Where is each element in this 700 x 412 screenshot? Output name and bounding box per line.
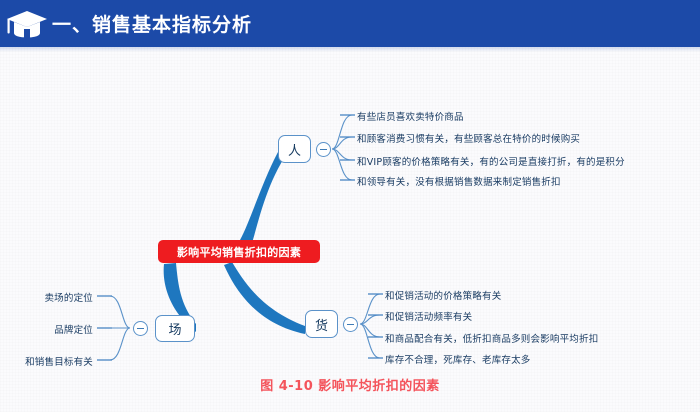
mindmap-connectors bbox=[0, 52, 700, 412]
leaf-huo-4[interactable]: 库存不合理，死库存、老库存太多 bbox=[385, 352, 531, 366]
slide: 一、销售基本指标分析 bbox=[0, 0, 700, 412]
leaf-chang-3[interactable]: 和销售目标有关 bbox=[25, 354, 93, 368]
leaf-chang-2[interactable]: 品牌定位 bbox=[54, 322, 93, 336]
minus-circle-icon-chang[interactable] bbox=[133, 321, 148, 336]
branch-ribbon-huo bbox=[224, 262, 305, 334]
leaf-ren-2[interactable]: 和顾客消费习惯有关，有些顾客总在特价的时候购买 bbox=[357, 131, 580, 145]
figure-caption: 图 4-10 影响平均折扣的因素 bbox=[0, 375, 700, 394]
mindmap-node-chang[interactable]: 场 bbox=[155, 315, 195, 342]
leaf-huo-1[interactable]: 和促销活动的价格策略有关 bbox=[385, 288, 501, 302]
leaf-huo-3[interactable]: 和商品配合有关，低折扣商品多则会影响平均折扣 bbox=[385, 331, 598, 345]
leaf-huo-2[interactable]: 和促销活动频率有关 bbox=[385, 309, 472, 323]
page-title: 一、销售基本指标分析 bbox=[52, 10, 252, 37]
minus-circle-icon-huo[interactable] bbox=[343, 317, 358, 332]
header-bar: 一、销售基本指标分析 bbox=[0, 0, 700, 47]
branch-ribbon-ren bbox=[240, 152, 288, 243]
mindmap-canvas: 影响平均销售折扣的因素 人 有些店员喜欢卖特价商品 和顾客消费习惯有关，有些顾客… bbox=[0, 52, 700, 412]
mindmap-root-node[interactable]: 影响平均销售折扣的因素 bbox=[158, 240, 320, 263]
graduation-cap-icon bbox=[6, 9, 48, 39]
mindmap-node-huo[interactable]: 货 bbox=[305, 310, 338, 338]
leaf-chang-1[interactable]: 卖场的定位 bbox=[44, 290, 93, 304]
leaf-ren-1[interactable]: 有些店员喜欢卖特价商品 bbox=[357, 109, 464, 123]
leaf-ren-4[interactable]: 和领导有关，没有根据销售数据来制定销售折扣 bbox=[357, 174, 561, 188]
leaf-ren-3[interactable]: 和VIP顾客的价格策略有关，有的公司是直接打折，有的是积分 bbox=[357, 154, 625, 168]
mindmap-node-ren[interactable]: 人 bbox=[278, 135, 311, 163]
minus-circle-icon-ren[interactable] bbox=[316, 142, 331, 157]
